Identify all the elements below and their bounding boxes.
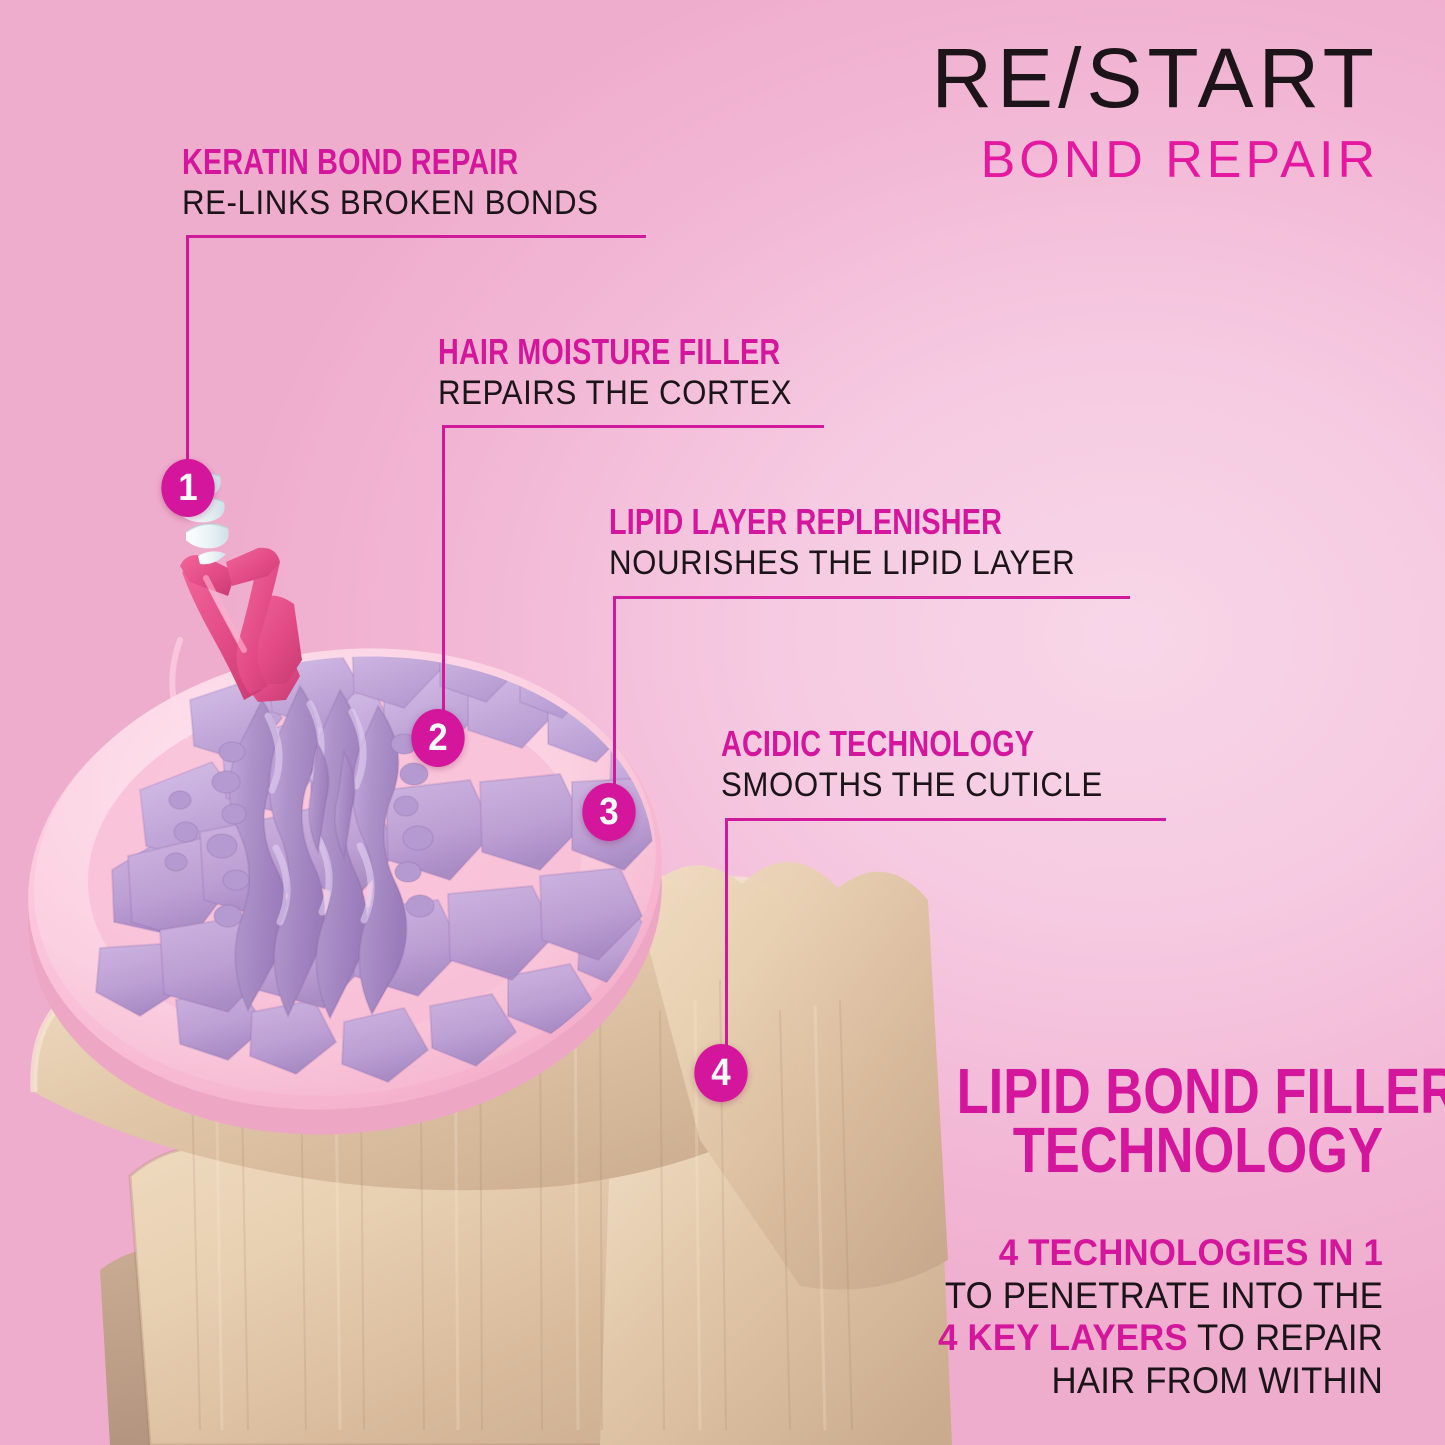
callout-4-marker[interactable]: 4 bbox=[694, 1044, 747, 1102]
callout-1-marker[interactable]: 1 bbox=[161, 459, 214, 517]
callout-4-number: 4 bbox=[711, 1054, 730, 1092]
callout-2-marker[interactable]: 2 bbox=[411, 709, 464, 767]
callout-4-leader-vertical bbox=[725, 818, 728, 1058]
headline-line-2: TECHNOLOGY bbox=[957, 1121, 1383, 1180]
callout-3-marker[interactable]: 3 bbox=[582, 783, 635, 841]
callout-1-number: 1 bbox=[178, 469, 197, 507]
headline-line-1: LIPID BOND FILLER bbox=[957, 1062, 1383, 1121]
callout-3-title: LIPID LAYER REPLENISHER bbox=[609, 504, 1015, 540]
callout-2-leader-horizontal bbox=[442, 425, 824, 428]
headline-block: LIPID BOND FILLER TECHNOLOGY bbox=[863, 1062, 1383, 1180]
brand-logo: RE/START BOND REPAIR bbox=[931, 36, 1379, 186]
callout-1-subtitle: RE-LINKS BROKEN BONDS bbox=[182, 186, 599, 220]
blurb-line-3: 4 KEY LAYERS TO REPAIR bbox=[894, 1317, 1383, 1360]
callout-1-leader-vertical bbox=[186, 235, 189, 475]
cuticle-scales bbox=[34, 862, 952, 1445]
blurb-line-2: TO PENETRATE INTO THE bbox=[894, 1275, 1383, 1318]
callout-1-title: KERATIN BOND REPAIR bbox=[182, 144, 544, 180]
callout-3-subtitle: NOURISHES THE LIPID LAYER bbox=[609, 546, 1075, 580]
blurb-line-4: HAIR FROM WITHIN bbox=[894, 1360, 1383, 1403]
brand-wordmark: RE/START bbox=[931, 36, 1379, 120]
cortex-cells bbox=[96, 624, 690, 1082]
callout-4: ACIDIC TECHNOLOGY SMOOTHS THE CUTICLE bbox=[721, 726, 1136, 802]
blurb-highlight-technologies: 4 TECHNOLOGIES IN 1 bbox=[999, 1232, 1383, 1273]
cortex-fibers bbox=[165, 686, 434, 1018]
callout-1: KERATIN BOND REPAIR RE-LINKS BROKEN BOND… bbox=[182, 144, 635, 220]
callout-3: LIPID LAYER REPLENISHER NOURISHES THE LI… bbox=[609, 504, 1116, 580]
blurb-line-1: 4 TECHNOLOGIES IN 1 bbox=[894, 1232, 1383, 1275]
callout-2-leader-vertical bbox=[442, 425, 445, 715]
blurb-block: 4 TECHNOLOGIES IN 1 TO PENETRATE INTO TH… bbox=[863, 1232, 1383, 1402]
callout-4-subtitle: SMOOTHS THE CUTICLE bbox=[721, 768, 1103, 802]
callout-4-leader-horizontal bbox=[725, 818, 1166, 821]
callout-3-leader-vertical bbox=[613, 596, 616, 796]
callout-3-number: 3 bbox=[599, 793, 618, 831]
callout-2-title: HAIR MOISTURE FILLER bbox=[438, 334, 780, 370]
blurb-line-3-rest: TO REPAIR bbox=[1188, 1317, 1383, 1358]
blurb-highlight-layers: 4 KEY LAYERS bbox=[938, 1317, 1188, 1358]
lipid-layer bbox=[2, 614, 689, 1170]
callout-1-leader-horizontal bbox=[186, 235, 646, 238]
brand-tagline: BOND REPAIR bbox=[931, 134, 1379, 186]
poster-canvas: RE/START BOND REPAIR KERATIN BOND REPAIR… bbox=[0, 0, 1445, 1445]
callout-2: HAIR MOISTURE FILLER REPAIRS THE CORTEX bbox=[438, 334, 866, 410]
callout-4-title: ACIDIC TECHNOLOGY bbox=[721, 726, 1053, 762]
callout-2-number: 2 bbox=[428, 719, 447, 757]
callout-3-leader-horizontal bbox=[613, 596, 1130, 599]
callout-2-subtitle: REPAIRS THE CORTEX bbox=[438, 376, 832, 410]
